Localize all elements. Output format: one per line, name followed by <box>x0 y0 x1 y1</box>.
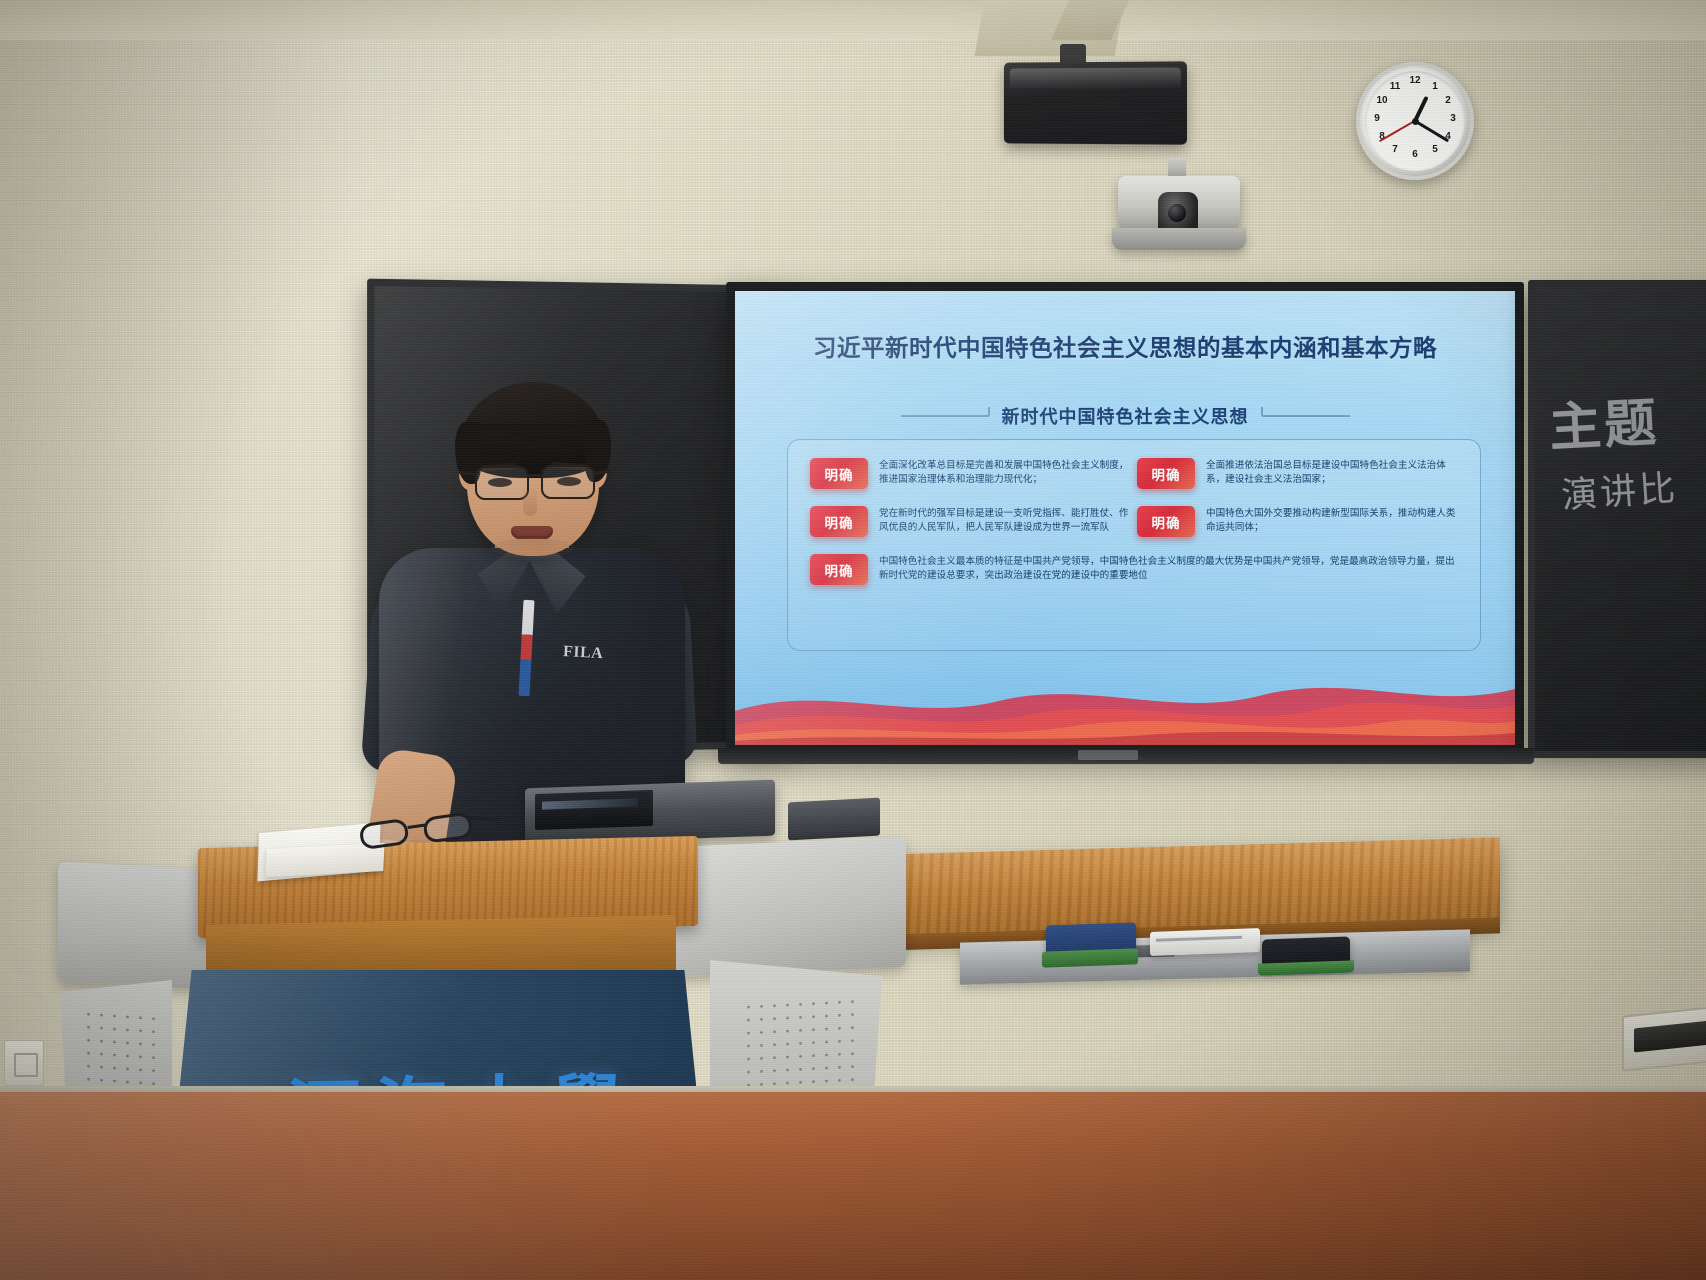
point-badge: 明确 <box>1137 458 1195 489</box>
clock-numeral: 2 <box>1441 96 1455 106</box>
desk-glasses-temple <box>467 816 499 821</box>
slide: 习近平新时代中国特色社会主义思想的基本内涵和基本方略 新时代中国特色社会主义思想… <box>735 291 1515 745</box>
right-dark-panel: 主题 演讲比 <box>1528 280 1706 758</box>
display-brand-plate <box>1078 750 1138 760</box>
point-text: 全面推进依法治国总目标是建设中国特色社会主义法治体系，建设社会主义法治国家； <box>1206 458 1464 487</box>
right-board-line-1: 主题 <box>1547 380 1661 461</box>
slide-point: 明确 党在新时代的强军目标是建设一支听党指挥、能打胜仗、作风优良的人民军队，把人… <box>810 506 1137 537</box>
point-text: 全面深化改革总目标是完善和发展中国特色社会主义制度，推进国家治理体系和治理能力现… <box>879 458 1137 487</box>
point-text: 党在新时代的强军目标是建设一支听党指挥、能打胜仗、作风优良的人民军队，把人民军队… <box>879 506 1137 535</box>
wave-svg <box>735 649 1515 745</box>
clock-center-pin <box>1412 118 1419 125</box>
desk-glasses-lens-right <box>422 811 473 843</box>
point-badge: 明确 <box>810 506 868 537</box>
lectern-right-wing <box>670 837 906 977</box>
slide-points-row: 明确 中国特色社会主义最本质的特征是中国共产党领导，中国特色社会主义制度的最大优… <box>810 554 1464 585</box>
clock-numeral: 11 <box>1388 82 1402 92</box>
clock-numeral: 10 <box>1375 96 1389 106</box>
slide-decor-wave <box>735 649 1515 745</box>
clock-numeral: 3 <box>1446 114 1460 124</box>
slide-points-grid: 明确 全面深化改革总目标是完善和发展中国特色社会主义制度，推进国家治理体系和治理… <box>810 458 1464 602</box>
classroom-scene: 12 1 2 3 4 5 6 7 8 9 10 11 习近平新时代中国 <box>0 0 1706 1280</box>
slide-point: 明确 中国特色社会主义最本质的特征是中国共产党领导，中国特色社会主义制度的最大优… <box>810 554 1464 585</box>
right-board-line-2: 演讲比 <box>1559 459 1679 519</box>
eyeglasses-lens-right <box>541 465 595 499</box>
chin-shadow <box>491 538 575 558</box>
slide-title: 习近平新时代中国特色社会主义思想的基本内涵和基本方略 <box>735 329 1515 363</box>
marker-box <box>1150 928 1260 956</box>
nose <box>523 488 537 516</box>
clock-face: 12 1 2 3 4 5 6 7 8 9 10 11 <box>1365 71 1465 171</box>
slide-point: 明确 全面深化改革总目标是完善和发展中国特色社会主义制度，推进国家治理体系和治理… <box>810 458 1137 489</box>
wall-speaker-icon <box>1004 61 1187 144</box>
camera-base <box>1112 228 1246 250</box>
clock-numeral: 6 <box>1408 150 1422 160</box>
wall-outlet-panel-right[interactable] <box>1622 1004 1706 1072</box>
clock-numeral: 12 <box>1408 76 1422 86</box>
floor-sheen <box>0 1092 1706 1280</box>
eyeglasses-icon <box>475 466 529 500</box>
point-badge: 明确 <box>1137 506 1195 537</box>
slide-point: 明确 全面推进依法治国总目标是建设中国特色社会主义法治体系，建设社会主义法治国家… <box>1137 458 1464 489</box>
green-cloth-edge <box>1042 948 1138 967</box>
subtitle-rule-right <box>1262 415 1350 417</box>
floor <box>0 1092 1706 1280</box>
slide-subtitle-row: 新时代中国特色社会主义思想 <box>735 403 1515 429</box>
subtitle-rule-left <box>901 415 989 417</box>
chest-brand-label: FILA <box>562 643 597 667</box>
point-text: 中国特色大国外交要推动构建新型国际关系，推动构建人类命运共同体； <box>1206 506 1464 535</box>
wall-clock-icon: 12 1 2 3 4 5 6 7 8 9 10 11 <box>1356 62 1474 180</box>
wall-outlet-left[interactable] <box>4 1040 44 1086</box>
slide-content-card: 明确 全面深化改革总目标是完善和发展中国特色社会主义制度，推进国家治理体系和治理… <box>787 439 1481 651</box>
lectern-mic-base <box>788 798 880 841</box>
lectern-monitor-screen[interactable] <box>535 790 653 830</box>
ceiling-band <box>0 0 1706 40</box>
slide-subtitle: 新时代中国特色社会主义思想 <box>1002 403 1249 429</box>
clock-numeral: 1 <box>1428 82 1442 92</box>
point-badge: 明确 <box>810 554 868 585</box>
glasses-bridge <box>529 474 543 477</box>
desk-glasses-lens-left <box>359 818 410 850</box>
slide-point: 明确 中国特色大国外交要推动构建新型国际关系，推动构建人类命运共同体； <box>1137 506 1464 537</box>
slide-points-row: 明确 全面深化改革总目标是完善和发展中国特色社会主义制度，推进国家治理体系和治理… <box>810 458 1464 489</box>
slide-canvas: 习近平新时代中国特色社会主义思想的基本内涵和基本方略 新时代中国特色社会主义思想… <box>735 291 1515 745</box>
clock-numeral: 7 <box>1388 145 1402 155</box>
point-text: 中国特色社会主义最本质的特征是中国共产党领导，中国特色社会主义制度的最大优势是中… <box>879 554 1464 583</box>
slide-points-row: 明确 党在新时代的强军目标是建设一支听党指挥、能打胜仗、作风优良的人民军队，把人… <box>810 506 1464 537</box>
clock-numeral: 9 <box>1370 114 1384 124</box>
point-badge: 明确 <box>810 458 868 489</box>
clock-numeral: 5 <box>1428 145 1442 155</box>
presentation-display[interactable]: 习近平新时代中国特色社会主义思想的基本内涵和基本方略 新时代中国特色社会主义思想… <box>726 282 1524 754</box>
